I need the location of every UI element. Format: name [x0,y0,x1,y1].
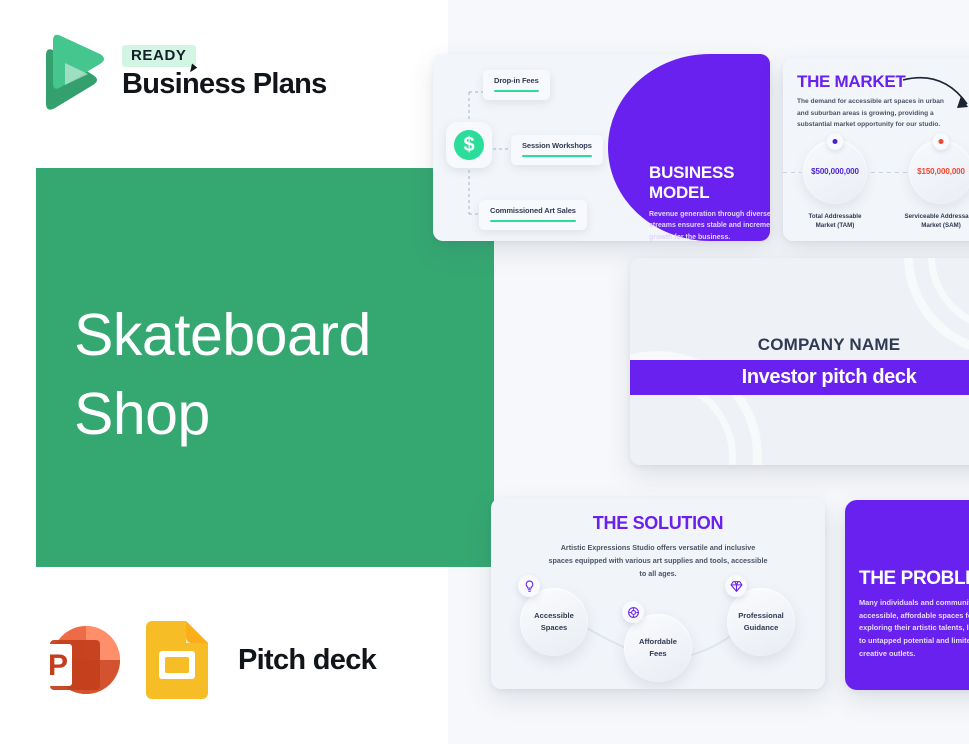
market-metric-sam[interactable]: $150,000,000 Serviceable Addressable Mar… [909,140,969,204]
market-title: THE MARKET [797,72,905,92]
brand-name-text: Business Plans [122,68,327,100]
company-name: COMPANY NAME [630,335,969,355]
business-model-item-3-label: Commissioned Art Sales [490,206,576,215]
business-model-item-1-bar [494,90,539,92]
market-line-left [783,172,801,173]
brand-name: Business Plans [122,69,327,101]
business-model-item-2-label: Session Workshops [522,141,592,150]
business-model-item-1[interactable]: Drop-in Fees [483,70,550,100]
slide-company-title[interactable]: COMPANY NAME Investor pitch deck [630,258,969,465]
business-model-description: Revenue generation through diverse strea… [649,209,770,241]
market-metric-sam-dot-icon [939,139,944,144]
business-model-item-1-label: Drop-in Fees [494,76,539,85]
market-metric-tam-dot-icon [833,139,838,144]
preview-canvas: READY Business Plans Skateboard Shop P [0,0,969,744]
play-triangle-logo-icon [38,33,106,113]
business-model-dollar-badge: $ [446,122,492,168]
business-model-item-2[interactable]: Session Workshops [511,135,603,165]
problem-description: Many individuals and communities lack ac… [859,597,969,661]
market-metric-tam-circle: $500,000,000 [803,140,867,204]
pitch-deck-bar: Investor pitch deck [630,360,969,395]
market-metric-tam-caption: Total Addressable Market (TAM) [791,212,879,231]
solution-node-3[interactable]: Professional Guidance [727,588,795,656]
solution-node-1-circle: Accessible Spaces [520,588,588,656]
business-model-item-3[interactable]: Commissioned Art Sales [479,200,587,230]
market-metric-sam-dot-badge [933,133,950,150]
business-model-item-2-bar [522,155,592,157]
solution-node-2-circle: Affordable Fees [624,614,692,682]
page-title: Skateboard Shop [74,296,454,454]
lightbulb-icon [518,575,540,597]
google-slides-icon [146,621,208,699]
slide-market[interactable]: THE MARKET The demand for accessible art… [783,58,969,241]
solution-title: THE SOLUTION [491,513,825,534]
market-metric-tam-value: $500,000,000 [803,167,867,176]
solution-node-1[interactable]: Accessible Spaces [520,588,588,656]
diamond-icon [725,575,747,597]
market-metric-sam-caption: Serviceable Addressable Market (SAM) [897,212,969,231]
format-label: Pitch deck [238,644,376,677]
slide-solution[interactable]: THE SOLUTION Artistic Expressions Studio… [491,498,825,689]
brand-logo: READY Business Plans [38,33,327,113]
problem-title: THE PROBLEM [859,568,969,590]
solution-node-1-label: Accessible Spaces [534,610,574,634]
slide-problem[interactable]: THE PROBLEM Many individuals and communi… [845,500,969,690]
powerpoint-icon: P [40,618,124,702]
market-metric-tam-dot-badge [827,133,844,150]
svg-text:P: P [48,649,68,682]
market-metric-tam[interactable]: $500,000,000 Total Addressable Market (T… [803,140,867,204]
target-icon [622,601,644,623]
solution-node-2-label: Affordable Fees [639,636,677,660]
business-model-item-3-bar [490,220,576,222]
market-metric-sam-value: $150,000,000 [909,167,969,176]
curved-arrow-icon [901,68,969,116]
solution-node-3-label: Professional Guidance [738,610,784,634]
pitch-deck-subtitle: Investor pitch deck [742,366,917,389]
solution-node-2[interactable]: Affordable Fees [624,614,692,682]
ready-badge: READY [122,45,196,67]
market-line-mid [871,172,907,173]
format-row: P Pitch deck [40,618,376,702]
business-model-title: BUSINESS MODEL [649,163,734,202]
brand-text: READY Business Plans [122,45,327,101]
dollar-sign-icon: $ [454,130,484,160]
solution-node-3-circle: Professional Guidance [727,588,795,656]
market-metric-sam-circle: $150,000,000 [909,140,969,204]
